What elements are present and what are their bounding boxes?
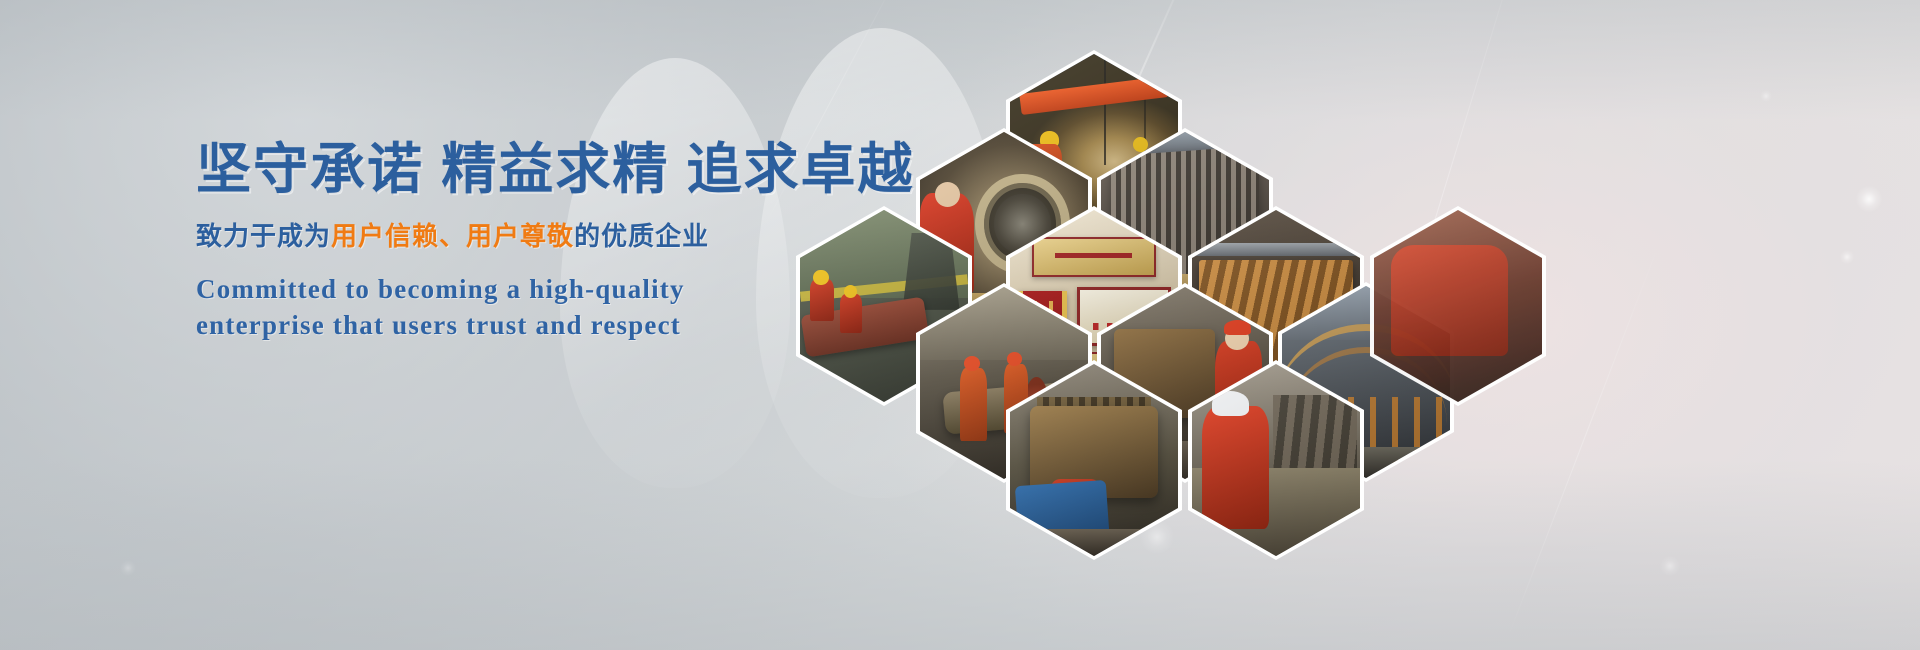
sparkle-icon bbox=[1840, 250, 1854, 264]
sparkle-icon bbox=[120, 560, 136, 576]
subtitle-separator: 、 bbox=[439, 221, 466, 251]
hero-banner: 坚守承诺 精益求精 追求卓越 致力于成为用户信赖、用户尊敬的优质企业 Commi… bbox=[0, 0, 1920, 650]
subtitle-lead: 致力于成为 bbox=[196, 221, 331, 251]
sparkle-icon bbox=[1856, 186, 1882, 212]
hexagon-photo-collage bbox=[760, 50, 1440, 520]
subtitle-highlight-2: 用户尊敬 bbox=[466, 221, 574, 251]
subtitle-highlight-1: 用户信赖 bbox=[331, 221, 439, 251]
sparkle-icon bbox=[1760, 90, 1772, 102]
sparkle-icon bbox=[1660, 556, 1680, 576]
subtitle-tail: 的优质企业 bbox=[574, 221, 709, 251]
